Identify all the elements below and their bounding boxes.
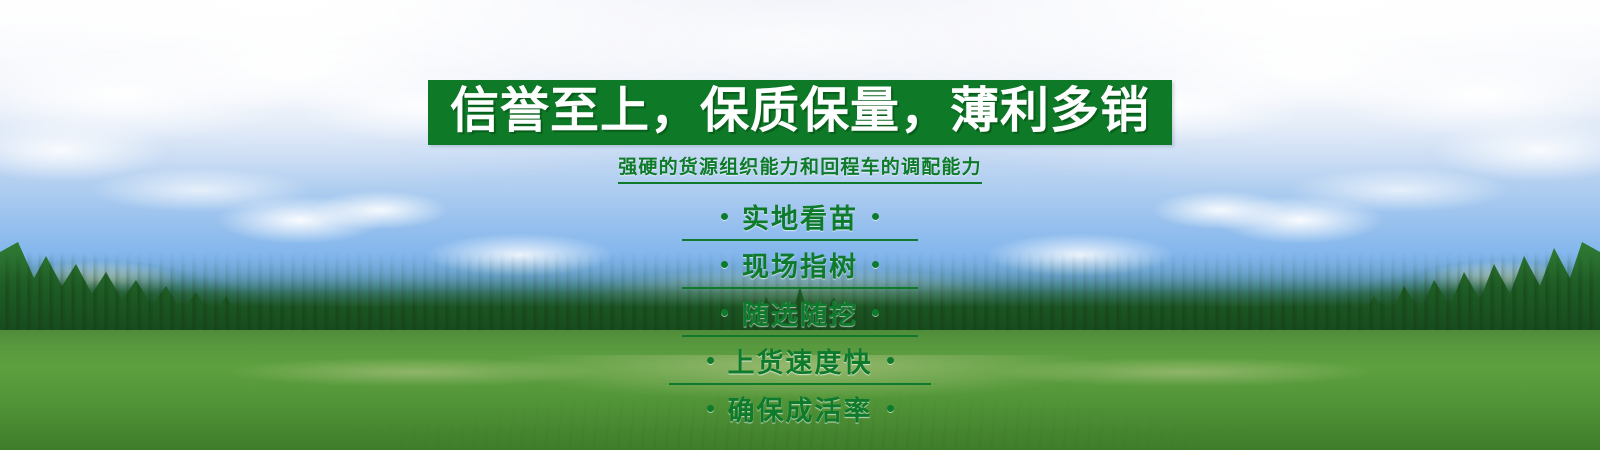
banner-content: 信誉至上，保质保量，薄利多销 强硬的货源组织能力和回程车的调配能力 实地看苗 现…: [0, 0, 1600, 450]
feature-label: 现场指树: [742, 245, 858, 284]
bullet-dot-icon: [721, 213, 728, 220]
bullet-dot-icon: [872, 213, 879, 220]
feature-item-2: 现场指树: [682, 244, 918, 289]
feature-item-3: 随选随挖: [682, 292, 918, 337]
feature-label: 实地看苗: [742, 197, 858, 236]
feature-item-1: 实地看苗: [682, 196, 918, 241]
feature-label: 随选随挖: [742, 293, 858, 332]
bullet-dot-icon: [872, 261, 879, 268]
feature-label: 确保成活率: [728, 389, 873, 428]
promo-banner: 信誉至上，保质保量，薄利多销 强硬的货源组织能力和回程车的调配能力 实地看苗 现…: [0, 0, 1600, 450]
bullet-dot-icon: [707, 405, 714, 412]
bullet-dot-icon: [872, 309, 879, 316]
subtitle-text: 强硬的货源组织能力和回程车的调配能力: [618, 152, 982, 184]
feature-label: 上货速度快: [728, 341, 873, 380]
feature-item-5: 确保成活率: [669, 388, 931, 431]
bullet-dot-icon: [887, 405, 894, 412]
bullet-dot-icon: [887, 357, 894, 364]
headline-banner: 信誉至上，保质保量，薄利多销: [428, 80, 1172, 145]
feature-item-4: 上货速度快: [669, 340, 931, 385]
feature-list: 实地看苗 现场指树 随选随挖 上货速度快 确保成活率: [669, 196, 931, 434]
bullet-dot-icon: [721, 309, 728, 316]
headline-text: 信誉至上，保质保量，薄利多销: [450, 86, 1150, 135]
bullet-dot-icon: [707, 357, 714, 364]
bullet-dot-icon: [721, 261, 728, 268]
